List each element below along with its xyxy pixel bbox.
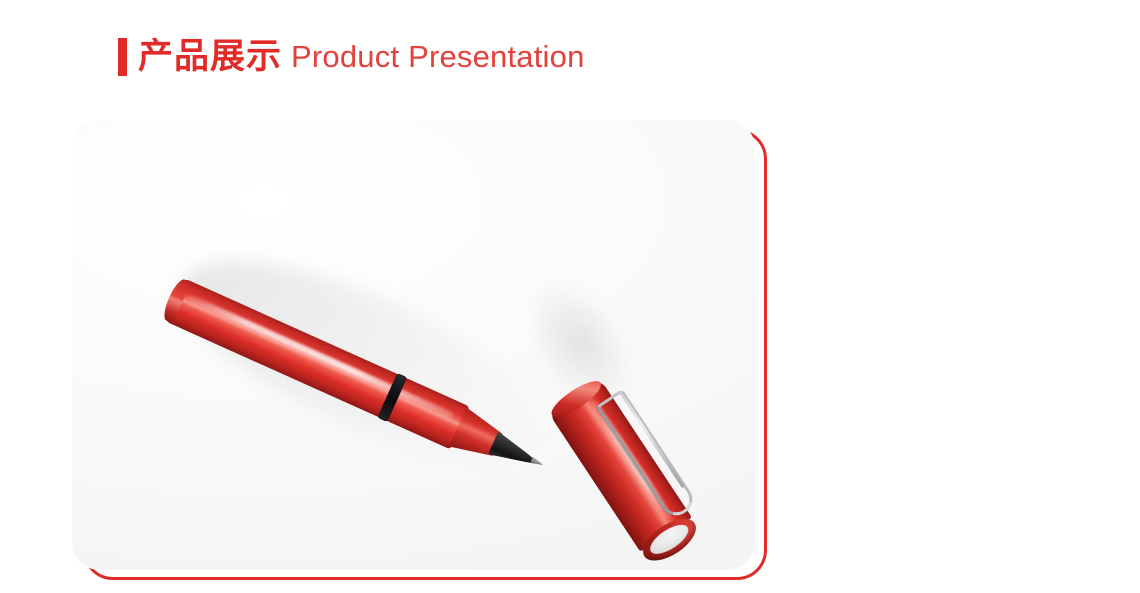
page-title-cn: 产品展示 <box>138 38 282 76</box>
product-photo[interactable] <box>72 120 755 570</box>
pen-illustration <box>72 120 755 570</box>
pen-cap <box>548 378 699 562</box>
section-header: 产品展示 Product Presentation <box>118 34 585 80</box>
page-title-en: Product Presentation <box>291 38 585 76</box>
product-card[interactable] <box>72 120 769 582</box>
accent-bar-icon <box>118 38 127 76</box>
